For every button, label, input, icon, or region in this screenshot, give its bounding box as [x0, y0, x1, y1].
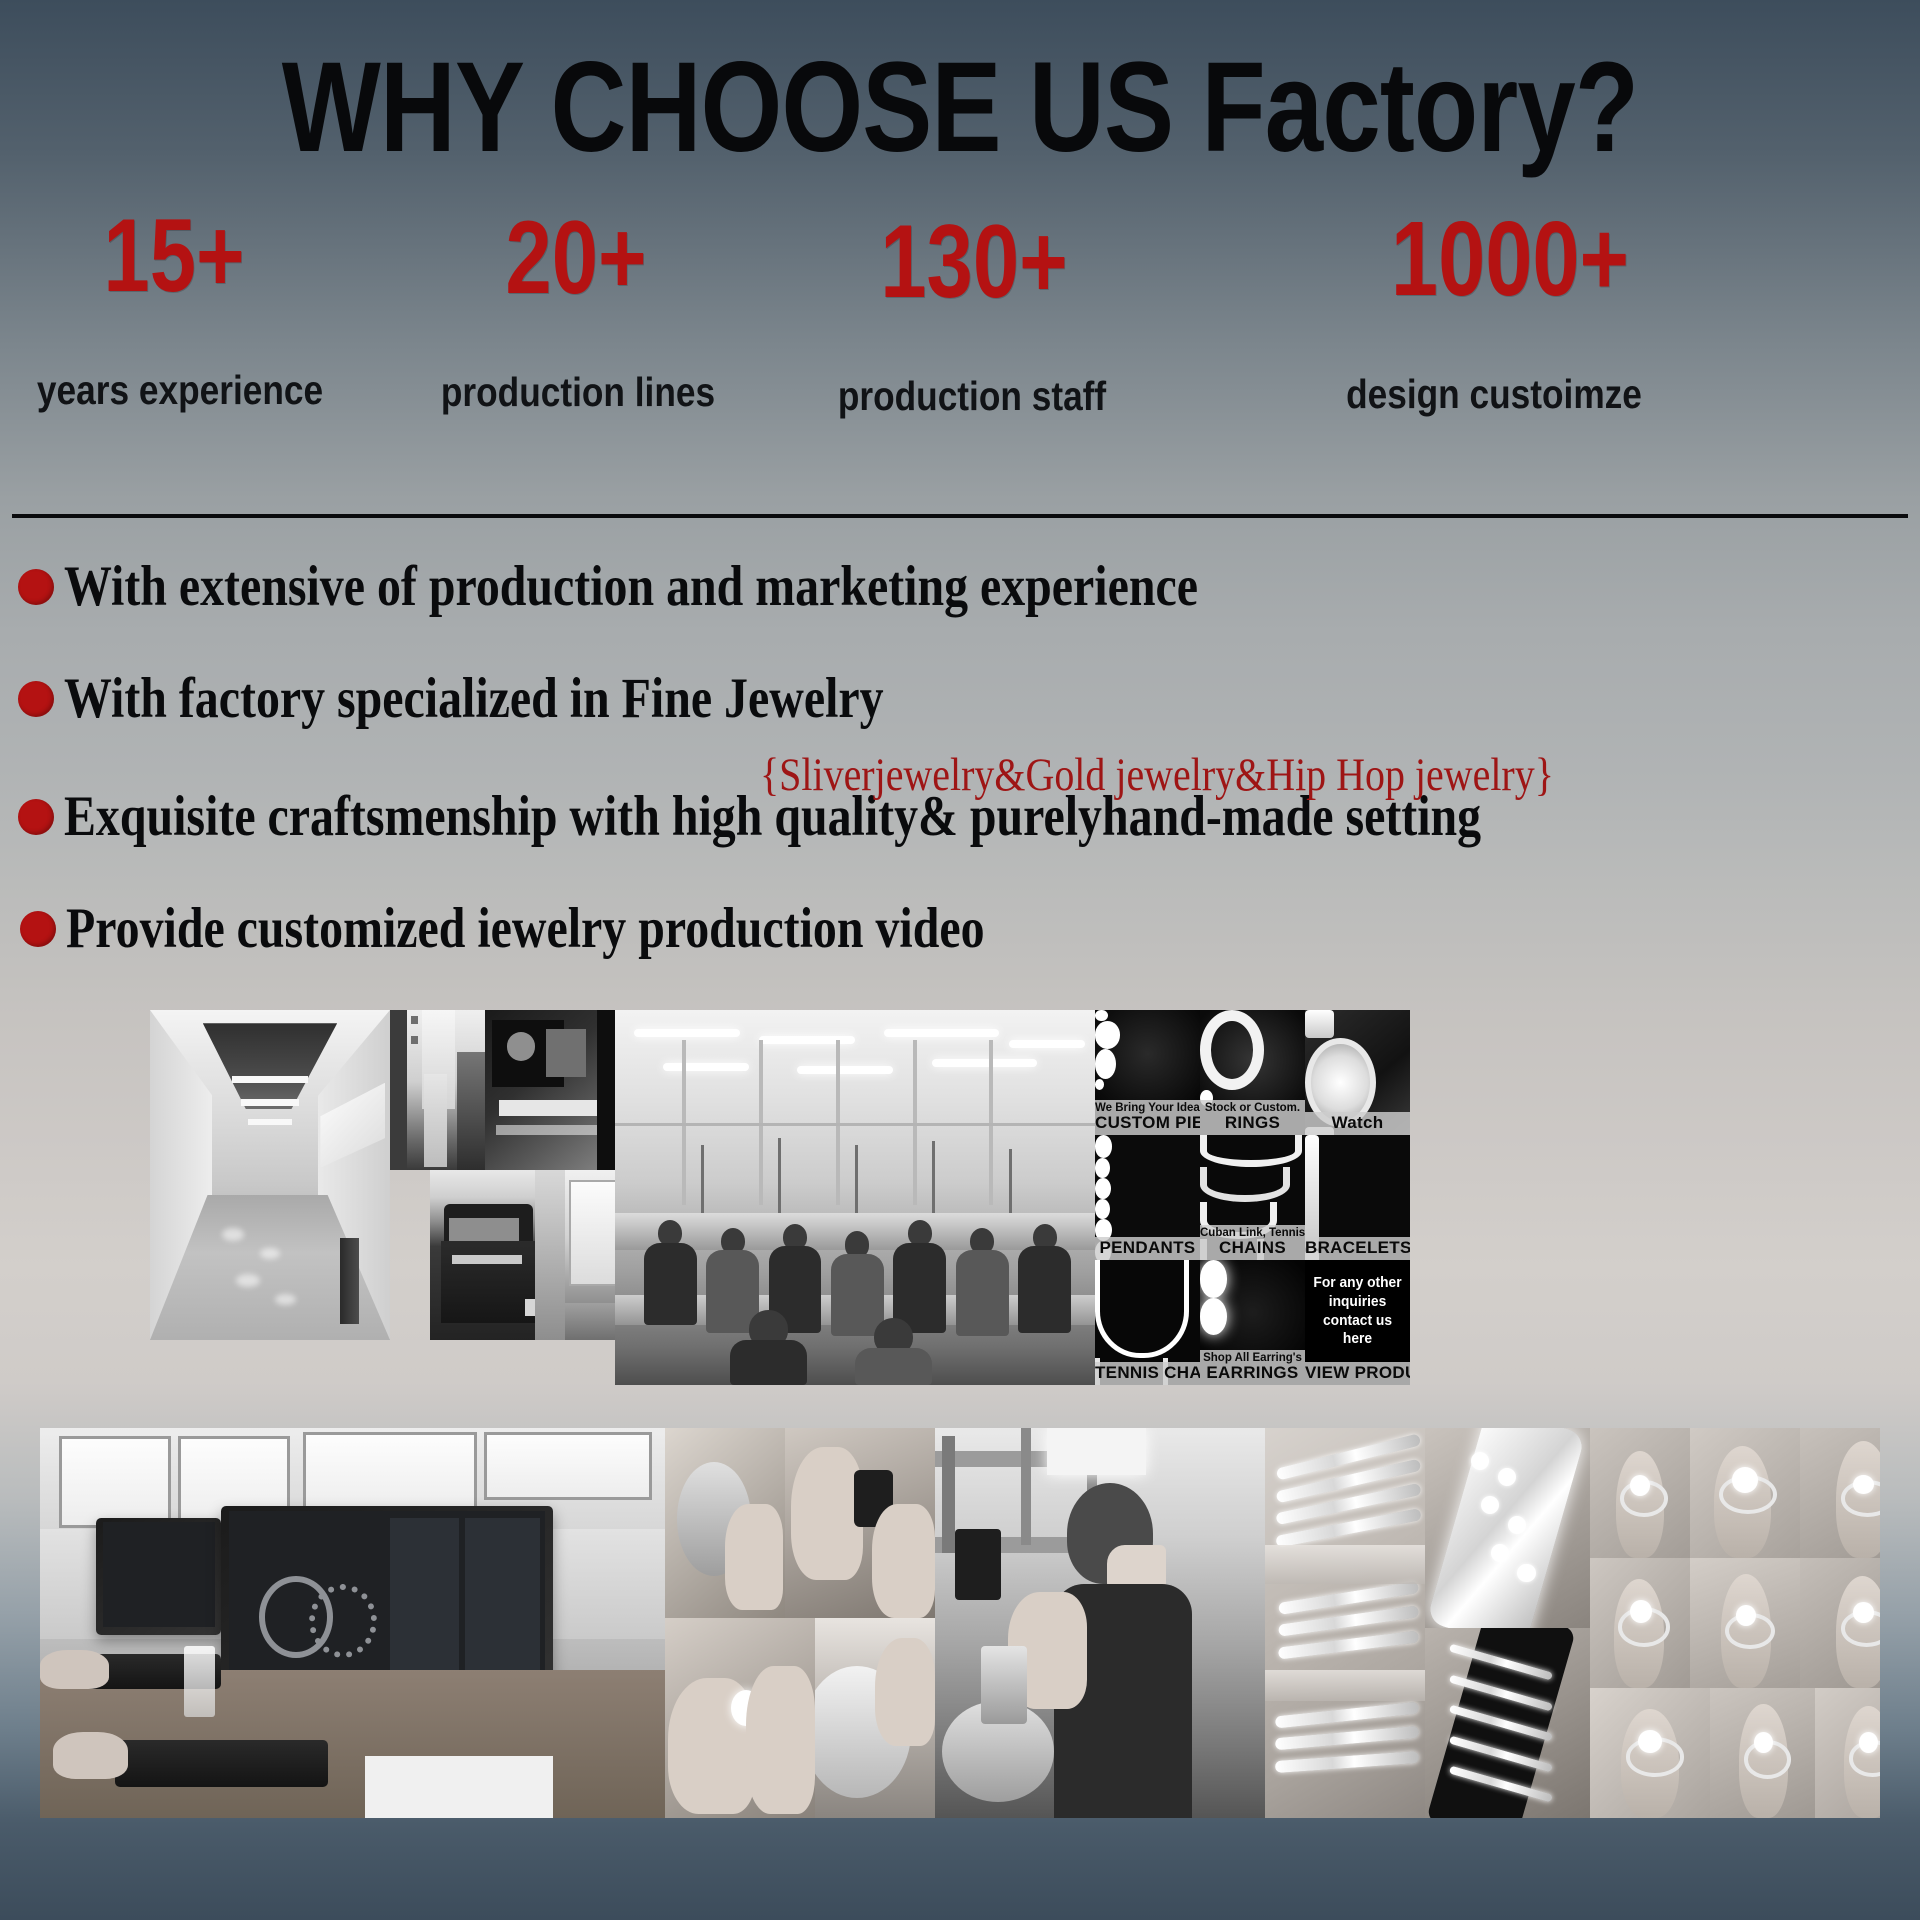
stat-production-lines: 20+ production lines	[358, 206, 718, 413]
catalog-title: BRACELETS	[1305, 1239, 1410, 1257]
photo-setting-stone-hands	[785, 1428, 935, 1618]
bullet-text: With extensive of production and marketi…	[64, 558, 1198, 615]
stat-label: production lines	[423, 372, 733, 413]
photo-collage-top: We Bring Your Idea To Life. CUSTOM PIECE…	[150, 1010, 1410, 1385]
photo-ring-on-finger-2	[1690, 1428, 1800, 1558]
stat-value: 1000+	[1310, 206, 1710, 312]
catalog-cell-bracelets[interactable]: BRACELETS	[1305, 1135, 1410, 1260]
product-catalog-panel[interactable]: We Bring Your Idea To Life. CUSTOM PIECE…	[1095, 1010, 1410, 1385]
bullet-dot-icon	[18, 569, 54, 605]
stats-row: 15+ years experience 20+ production line…	[0, 198, 1920, 418]
catalog-title: CHAINS	[1200, 1239, 1305, 1257]
photo-ring-on-finger-6	[1800, 1558, 1880, 1688]
catalog-caption: Cuban Link, Tennis etc. CHAINS	[1200, 1225, 1305, 1260]
photo-jeweler-at-bench	[935, 1428, 1265, 1818]
catalog-caption: PENDANTS	[1095, 1237, 1200, 1260]
stat-value: 130+	[822, 210, 1126, 314]
bullet-dot-icon	[18, 681, 54, 717]
photo-3d-printer-machine	[430, 1170, 565, 1340]
catalog-title: PENDANTS	[1095, 1239, 1200, 1257]
catalog-caption: Shop All Earring's EARRINGS	[1200, 1350, 1305, 1385]
photo-ring-on-finger-9	[1815, 1688, 1880, 1818]
stat-years-experience: 15+ years experience	[4, 204, 364, 411]
catalog-cell-rings[interactable]: Stock or Custom. RINGS	[1200, 1010, 1305, 1135]
photo-cad-design-workstation	[40, 1428, 665, 1818]
stat-production-staff: 130+ production staff	[712, 210, 1092, 417]
bullet-item: With factory specialized in Fine Jewelry	[18, 670, 1040, 727]
catalog-title: TENNIS CHAINS	[1095, 1364, 1200, 1382]
catalog-caption: Stock or Custom. RINGS	[1200, 1100, 1305, 1135]
photo-tennis-bracelets-stack	[1265, 1428, 1425, 1818]
catalog-cell-view-products[interactable]: For any other inquiries contact us here …	[1305, 1260, 1410, 1385]
catalog-caption: Watch	[1305, 1112, 1410, 1135]
catalog-title: Watch	[1305, 1114, 1410, 1132]
stat-value: 20+	[432, 206, 720, 310]
photo-ring-on-finger-7	[1590, 1688, 1710, 1818]
catalog-cell-watch[interactable]: Watch	[1305, 1010, 1410, 1135]
horizontal-divider	[12, 514, 1908, 518]
catalog-caption: TENNIS CHAINS	[1095, 1362, 1200, 1385]
stat-design-customize: 1000+ design custoimze	[1100, 206, 1600, 415]
stat-value: 15+	[30, 204, 318, 308]
bullet-dot-icon	[18, 799, 54, 835]
photo-iced-bracelet-closeup	[1425, 1428, 1590, 1628]
catalog-caption: BRACELETS	[1305, 1237, 1410, 1260]
photo-factory-corridor	[150, 1010, 390, 1340]
catalog-caption: We Bring Your Idea To Life. CUSTOM PIECE…	[1095, 1100, 1200, 1135]
photo-polishing-hands-2	[665, 1618, 815, 1818]
catalog-cell-tennis-chains[interactable]: TENNIS CHAINS	[1095, 1260, 1200, 1385]
bullet-item: Provide customized iewelry production vi…	[20, 900, 1159, 957]
photo-collage-bottom	[40, 1428, 1880, 1818]
photo-ring-on-finger-1	[1590, 1428, 1690, 1558]
bullet-text: With factory specialized in Fine Jewelry	[64, 670, 884, 727]
photo-polishing-hands-1	[665, 1428, 785, 1618]
bullet-text: Provide customized iewelry production vi…	[66, 900, 985, 957]
catalog-cell-custom-pieces[interactable]: We Bring Your Idea To Life. CUSTOM PIECE…	[1095, 1010, 1200, 1135]
catalog-title: EARRINGS	[1200, 1364, 1305, 1382]
photo-ring-on-finger-8	[1710, 1688, 1815, 1818]
catalog-caption: VIEW PRODUCTS	[1305, 1362, 1410, 1385]
photo-cleanroom-door-hall	[390, 1010, 485, 1170]
photo-polishing-wheel	[815, 1618, 935, 1818]
bullet-dot-icon	[20, 911, 56, 947]
stat-label: years experience	[25, 370, 335, 411]
inquiry-text: For any other inquiries contact us here	[1309, 1274, 1406, 1349]
catalog-cell-pendants[interactable]: PENDANTS	[1095, 1135, 1200, 1260]
stat-label: design custoimze	[1279, 374, 1709, 415]
photo-production-floor-workers	[615, 1010, 1095, 1385]
catalog-title: VIEW PRODUCTS	[1305, 1364, 1410, 1382]
catalog-cell-earrings[interactable]: Shop All Earring's EARRINGS	[1200, 1260, 1305, 1385]
page-title: WHY CHOOSE US Factory?	[173, 44, 1747, 172]
catalog-title: CUSTOM PIECES	[1095, 1114, 1200, 1132]
catalog-cell-chains[interactable]: Cuban Link, Tennis etc. CHAINS	[1200, 1135, 1305, 1260]
stat-label: production staff	[809, 376, 1136, 417]
photo-black-band-bracelet	[1425, 1628, 1590, 1818]
photo-ring-on-finger-5	[1690, 1558, 1800, 1688]
catalog-title: RINGS	[1200, 1114, 1305, 1132]
jewelry-types-note: {Sliverjewelry&Gold jewelry&Hip Hop jewe…	[760, 748, 1554, 802]
photo-ring-on-finger-4	[1590, 1558, 1690, 1688]
bullet-item: With extensive of production and marketi…	[18, 558, 1414, 615]
photo-ring-on-finger-3	[1800, 1428, 1880, 1558]
